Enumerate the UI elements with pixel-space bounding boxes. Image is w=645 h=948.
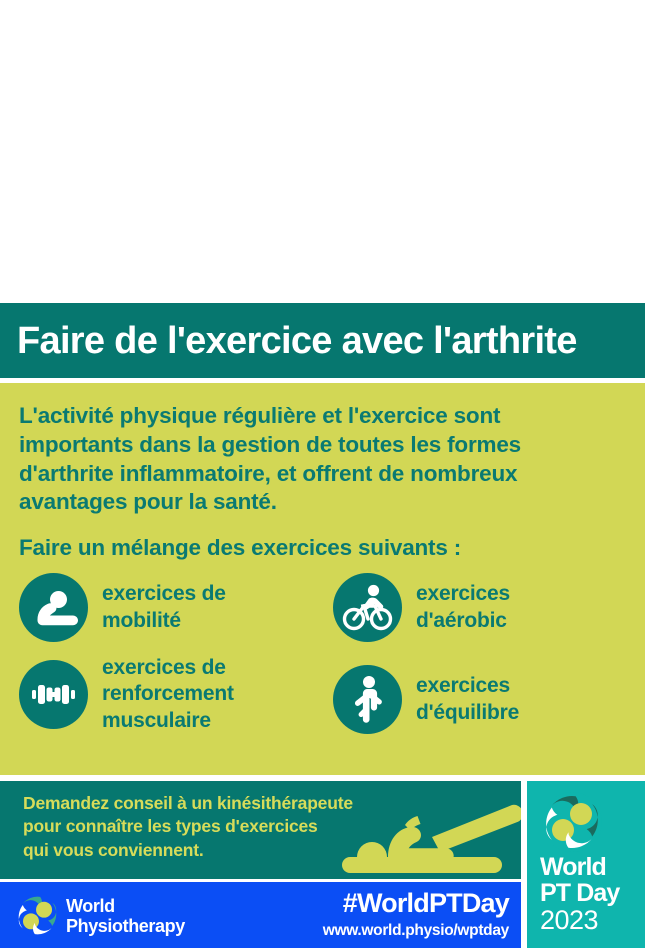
badge-line-ptday: PT Day <box>540 881 619 906</box>
title-band: Faire de l'exercice avec l'arthrite <box>0 303 645 378</box>
exercise-item-mobility: exercices de mobilité <box>19 573 226 642</box>
world-pt-day-badge: World PT Day 2023 <box>527 781 645 948</box>
exercise-item-balance: exercices d'équilibre <box>333 665 519 734</box>
exercise-label: exercices de mobilité <box>102 581 226 634</box>
balance-person-icon <box>333 665 402 734</box>
page-title: Faire de l'exercice avec l'arthrite <box>0 322 577 360</box>
exercise-label: exercices de renforcement musculaire <box>102 655 234 734</box>
exercise-label: exercices d'aérobic <box>416 581 510 634</box>
badge-line-world: World <box>540 855 606 880</box>
stretching-person-icon <box>19 573 88 642</box>
exercise-item-aerobic: exercices d'aérobic <box>333 573 510 642</box>
blank-top-area <box>0 0 645 303</box>
world-physiotherapy-pinwheel-icon <box>541 791 603 853</box>
advice-band: Demandez conseil à un kinésithérapeute p… <box>0 781 521 879</box>
footer-band: World Physiotherapy #WorldPTDay www.worl… <box>0 882 521 948</box>
world-physiotherapy-wordmark: World Physiotherapy <box>66 896 185 936</box>
lying-person-therapy-icon <box>336 799 521 879</box>
website-url[interactable]: www.world.physio/wptday <box>323 923 509 939</box>
hashtag-label: #WorldPTDay <box>343 890 509 917</box>
badge-year: 2023 <box>540 907 598 934</box>
exercise-item-strengthening: exercices de renforcement musculaire <box>19 655 234 734</box>
prompt-paragraph: Faire un mélange des exercices suivants … <box>19 534 619 563</box>
dumbbell-icon <box>19 660 88 729</box>
world-physiotherapy-pinwheel-icon <box>15 893 60 938</box>
intro-paragraph: L'activité physique régulière et l'exerc… <box>19 402 619 517</box>
exercise-label: exercices d'équilibre <box>416 673 519 726</box>
exercise-grid: exercices de mobilité <box>0 573 645 773</box>
cyclist-icon <box>333 573 402 642</box>
main-content-band: L'activité physique régulière et l'exerc… <box>0 383 645 775</box>
poster-root: Faire de l'exercice avec l'arthrite L'ac… <box>0 0 645 948</box>
